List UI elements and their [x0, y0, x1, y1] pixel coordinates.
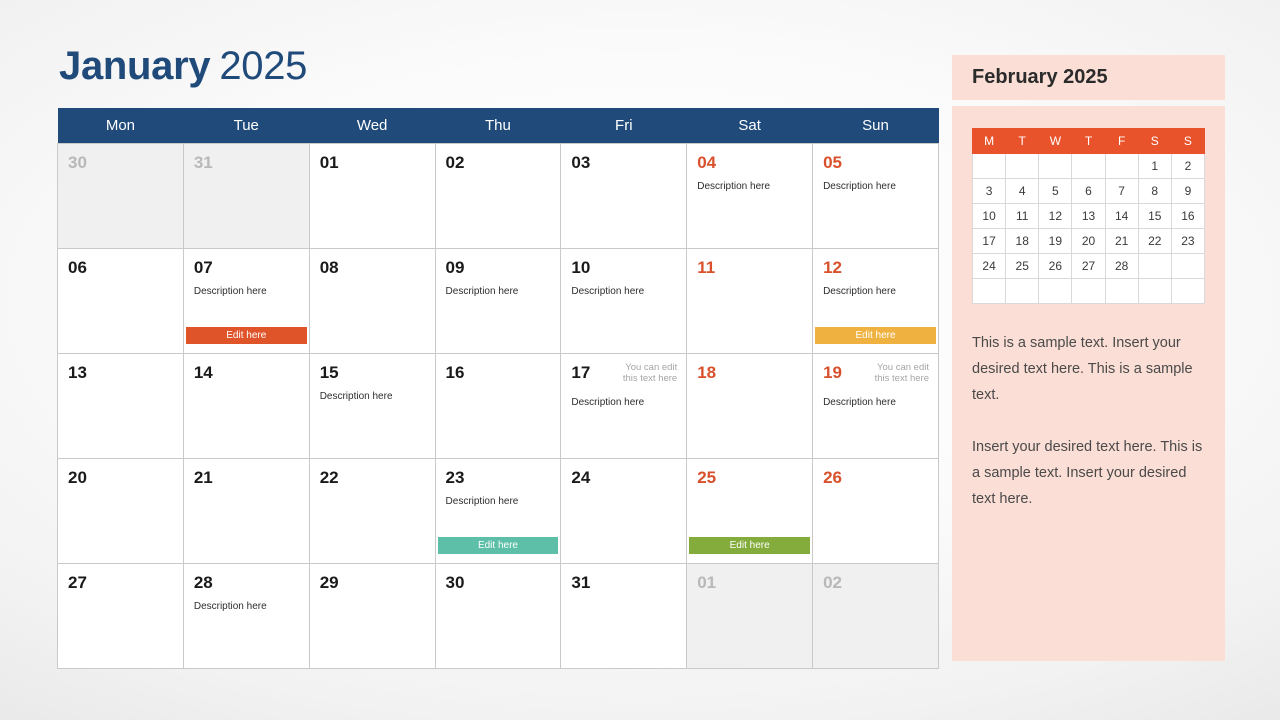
mini-day-cell-empty: [1039, 279, 1072, 304]
mini-weekday-header: F: [1105, 129, 1138, 154]
mini-day-cell-empty: [1072, 279, 1105, 304]
day-cell-09[interactable]: 09Description here: [435, 249, 561, 354]
month-grid: MonTueWedThuFriSatSun 303101020304Descri…: [57, 108, 939, 669]
day-number: 06: [68, 258, 87, 278]
day-cell-inner: 01: [687, 564, 812, 668]
day-cell-25[interactable]: 25Edit here: [687, 459, 813, 564]
mini-day-cell-1[interactable]: 1: [1138, 154, 1171, 179]
day-cell-05[interactable]: 05Description here: [813, 144, 939, 249]
mini-month-grid: MTWTFSS 12345678910111213141516171819202…: [972, 128, 1205, 304]
day-cell-inner: 30: [436, 564, 561, 668]
day-cell-08[interactable]: 08: [309, 249, 435, 354]
day-number: 13: [68, 363, 87, 383]
weekday-header-sat: Sat: [687, 108, 813, 144]
day-cell-inner: 10Description here: [561, 249, 686, 353]
day-cell-inner: 14: [184, 354, 309, 458]
day-cell-23[interactable]: 23Description hereEdit here: [435, 459, 561, 564]
day-cell-inner: 02: [436, 144, 561, 248]
sidebar-paragraph-1: This is a sample text. Insert your desir…: [972, 330, 1205, 408]
day-cell-04[interactable]: 04Description here: [687, 144, 813, 249]
day-description[interactable]: Description here: [194, 601, 299, 613]
day-number: 10: [571, 258, 590, 278]
day-description[interactable]: Description here: [823, 286, 928, 298]
day-number: 01: [697, 573, 716, 593]
day-cell-18[interactable]: 18: [687, 354, 813, 459]
mini-day-cell-empty: [973, 154, 1006, 179]
mini-day-cell-empty: [1138, 279, 1171, 304]
day-number: 20: [68, 468, 87, 488]
mini-day-cell-empty: [1072, 154, 1105, 179]
day-description[interactable]: Description here: [823, 397, 928, 409]
mini-day-cell-2[interactable]: 2: [1171, 154, 1204, 179]
day-cell-inner: 18: [687, 354, 812, 458]
day-cell-01[interactable]: 01: [309, 144, 435, 249]
mini-week-row: 17181920212223: [973, 229, 1205, 254]
day-number: 31: [194, 153, 213, 173]
mini-day-cell-11[interactable]: 11: [1006, 204, 1039, 229]
weekday-header-thu: Thu: [435, 108, 561, 144]
mini-day-cell-15[interactable]: 15: [1138, 204, 1171, 229]
mini-day-cell-18[interactable]: 18: [1006, 229, 1039, 254]
mini-week-row: 2425262728: [973, 254, 1205, 279]
mini-month-grid-body: 1234567891011121314151617181920212223242…: [973, 154, 1205, 304]
edit-here-button[interactable]: Edit here: [815, 327, 936, 344]
day-description[interactable]: Description here: [571, 397, 676, 409]
edit-here-button[interactable]: Edit here: [438, 537, 559, 554]
mini-day-cell-17[interactable]: 17: [973, 229, 1006, 254]
mini-day-cell-27[interactable]: 27: [1072, 254, 1105, 279]
day-cell-inner: 11: [687, 249, 812, 353]
mini-day-cell-4[interactable]: 4: [1006, 179, 1039, 204]
day-number: 15: [320, 363, 339, 383]
day-cell-inner: 28Description here: [184, 564, 309, 668]
day-cell-inner: 19You can edit this text hereDescription…: [813, 354, 938, 458]
day-number: 04: [697, 153, 716, 173]
mini-week-row: [973, 279, 1205, 304]
day-number: 02: [823, 573, 842, 593]
day-number: 09: [446, 258, 465, 278]
mini-day-cell-empty: [1138, 254, 1171, 279]
day-cell-20[interactable]: 20: [58, 459, 184, 564]
mini-day-cell-12[interactable]: 12: [1039, 204, 1072, 229]
day-cell-inner: 12Description hereEdit here: [813, 249, 938, 353]
day-number: 30: [68, 153, 87, 173]
day-cell-inner: 22: [310, 459, 435, 563]
weekday-header-sun: Sun: [813, 108, 939, 144]
day-cell-13[interactable]: 13: [58, 354, 184, 459]
mini-week-row: 10111213141516: [973, 204, 1205, 229]
mini-weekday-header: M: [973, 129, 1006, 154]
week-row: 20212223Description hereEdit here2425Edi…: [58, 459, 939, 564]
day-number: 30: [446, 573, 465, 593]
day-cell-inner: 29: [310, 564, 435, 668]
sidebar-paragraph-2: Insert your desired text here. This is a…: [972, 434, 1205, 512]
day-cell-inner: 25Edit here: [687, 459, 812, 563]
day-cell-inner: 30: [58, 144, 183, 248]
day-cell-14[interactable]: 14: [183, 354, 309, 459]
day-number: 25: [697, 468, 716, 488]
day-cell-inner: 08: [310, 249, 435, 353]
day-cell-21[interactable]: 21: [183, 459, 309, 564]
mini-week-row: 12: [973, 154, 1205, 179]
day-description[interactable]: Description here: [823, 181, 928, 193]
day-cell-inner: 31: [561, 564, 686, 668]
mini-day-cell-28[interactable]: 28: [1105, 254, 1138, 279]
day-cell-22[interactable]: 22: [309, 459, 435, 564]
mini-day-cell-22[interactable]: 22: [1138, 229, 1171, 254]
day-description[interactable]: Description here: [320, 391, 425, 403]
day-number: 02: [446, 153, 465, 173]
mini-day-cell-14[interactable]: 14: [1105, 204, 1138, 229]
day-cell-24[interactable]: 24: [561, 459, 687, 564]
day-cell-01[interactable]: 01: [687, 564, 813, 669]
day-number: 16: [446, 363, 465, 383]
week-row: 303101020304Description here05Descriptio…: [58, 144, 939, 249]
day-cell-03[interactable]: 03: [561, 144, 687, 249]
edit-here-button[interactable]: Edit here: [689, 537, 810, 554]
day-cell-11[interactable]: 11: [687, 249, 813, 354]
month-name: January: [59, 44, 210, 88]
day-number: 11: [697, 258, 715, 278]
mini-weekday-header: T: [1006, 129, 1039, 154]
day-cell-17[interactable]: 17You can edit this text hereDescription…: [561, 354, 687, 459]
day-number: 08: [320, 258, 339, 278]
mini-day-cell-8[interactable]: 8: [1138, 179, 1171, 204]
weekday-header-tue: Tue: [183, 108, 309, 144]
sidebar-title: February 2025: [952, 55, 1225, 100]
year-label: 2025: [219, 44, 307, 88]
day-number: 27: [68, 573, 87, 593]
day-cell-inner: 05Description here: [813, 144, 938, 248]
day-cell-07[interactable]: 07Description hereEdit here: [183, 249, 309, 354]
day-cell-29[interactable]: 29: [309, 564, 435, 669]
mini-day-cell-empty: [1006, 154, 1039, 179]
mini-day-cell-empty: [1105, 154, 1138, 179]
mini-day-cell-16[interactable]: 16: [1171, 204, 1204, 229]
day-cell-inner: 27: [58, 564, 183, 668]
day-number: 19: [823, 363, 842, 383]
day-number: 22: [320, 468, 339, 488]
day-cell-27[interactable]: 27: [58, 564, 184, 669]
mini-day-cell-empty: [1105, 279, 1138, 304]
day-cell-inner: 02: [813, 564, 938, 668]
mini-day-cell-24[interactable]: 24: [973, 254, 1006, 279]
mini-day-cell-21[interactable]: 21: [1105, 229, 1138, 254]
mini-weekday-header-row: MTWTFSS: [973, 129, 1205, 154]
day-description[interactable]: Description here: [697, 181, 802, 193]
mini-day-cell-5[interactable]: 5: [1039, 179, 1072, 204]
day-cell-inner: 21: [184, 459, 309, 563]
mini-day-cell-25[interactable]: 25: [1006, 254, 1039, 279]
day-cell-inner: 09Description here: [436, 249, 561, 353]
day-cell-19[interactable]: 19You can edit this text hereDescription…: [813, 354, 939, 459]
day-cell-inner: 04Description here: [687, 144, 812, 248]
mini-day-cell-23[interactable]: 23: [1171, 229, 1204, 254]
day-description[interactable]: Description here: [446, 496, 551, 508]
day-cell-inner: 20: [58, 459, 183, 563]
edit-here-button[interactable]: Edit here: [186, 327, 307, 344]
weekday-header-wed: Wed: [309, 108, 435, 144]
day-cell-inner: 15Description here: [310, 354, 435, 458]
day-number: 18: [697, 363, 716, 383]
day-cell-16[interactable]: 16: [435, 354, 561, 459]
sidebar-body: MTWTFSS 12345678910111213141516171819202…: [952, 106, 1225, 661]
day-number: 31: [571, 573, 590, 593]
day-cell-28[interactable]: 28Description here: [183, 564, 309, 669]
day-number: 17: [571, 363, 590, 383]
week-row: 0607Description hereEdit here0809Descrip…: [58, 249, 939, 354]
page-title: January2025: [59, 38, 939, 94]
weekday-header-mon: Mon: [58, 108, 184, 144]
mini-day-cell-empty: [1171, 279, 1204, 304]
week-row: 2728Description here2930310102: [58, 564, 939, 669]
day-cell-inner: 17You can edit this text hereDescription…: [561, 354, 686, 458]
day-number: 24: [571, 468, 590, 488]
day-cell-inner: 26: [813, 459, 938, 563]
day-edit-note[interactable]: You can edit this text here: [867, 362, 929, 384]
day-cell-inner: 13: [58, 354, 183, 458]
day-description[interactable]: Description here: [446, 286, 551, 298]
day-cell-02[interactable]: 02: [813, 564, 939, 669]
day-number: 07: [194, 258, 213, 278]
day-number: 23: [446, 468, 465, 488]
day-cell-31[interactable]: 31: [561, 564, 687, 669]
day-cell-inner: 23Description hereEdit here: [436, 459, 561, 563]
month-grid-body: 303101020304Description here05Descriptio…: [58, 144, 939, 669]
day-cell-26[interactable]: 26: [813, 459, 939, 564]
day-description[interactable]: Description here: [571, 286, 676, 298]
day-cell-inner: 07Description hereEdit here: [184, 249, 309, 353]
day-description[interactable]: Description here: [194, 286, 299, 298]
mini-weekday-header: S: [1138, 129, 1171, 154]
day-edit-note[interactable]: You can edit this text here: [615, 362, 677, 384]
day-cell-31[interactable]: 31: [183, 144, 309, 249]
day-cell-30[interactable]: 30: [58, 144, 184, 249]
mini-day-cell-10[interactable]: 10: [973, 204, 1006, 229]
mini-day-cell-empty: [1006, 279, 1039, 304]
mini-day-cell-empty: [973, 279, 1006, 304]
day-cell-inner: 01: [310, 144, 435, 248]
day-number: 29: [320, 573, 339, 593]
week-row: 131415Description here1617You can edit t…: [58, 354, 939, 459]
mini-day-cell-empty: [1171, 254, 1204, 279]
day-number: 05: [823, 153, 842, 173]
sidebar-panel: February 2025 MTWTFSS 123456789101112131…: [952, 55, 1225, 661]
weekday-header-fri: Fri: [561, 108, 687, 144]
mini-day-cell-20[interactable]: 20: [1072, 229, 1105, 254]
day-cell-06[interactable]: 06: [58, 249, 184, 354]
day-cell-30[interactable]: 30: [435, 564, 561, 669]
mini-day-cell-6[interactable]: 6: [1072, 179, 1105, 204]
day-number: 03: [571, 153, 590, 173]
day-cell-10[interactable]: 10Description here: [561, 249, 687, 354]
mini-weekday-header: S: [1171, 129, 1204, 154]
day-cell-inner: 31: [184, 144, 309, 248]
day-cell-02[interactable]: 02: [435, 144, 561, 249]
day-cell-12[interactable]: 12Description hereEdit here: [813, 249, 939, 354]
main-calendar-panel: January2025 MonTueWedThuFriSatSun 303101…: [57, 38, 939, 669]
day-number: 01: [320, 153, 339, 173]
mini-weekday-header: T: [1072, 129, 1105, 154]
mini-day-cell-9[interactable]: 9: [1171, 179, 1204, 204]
day-cell-inner: 16: [436, 354, 561, 458]
mini-day-cell-7[interactable]: 7: [1105, 179, 1138, 204]
day-number: 28: [194, 573, 213, 593]
mini-day-cell-3[interactable]: 3: [973, 179, 1006, 204]
mini-day-cell-26[interactable]: 26: [1039, 254, 1072, 279]
day-number: 21: [194, 468, 213, 488]
mini-day-cell-empty: [1039, 154, 1072, 179]
day-number: 14: [194, 363, 213, 383]
day-cell-inner: 03: [561, 144, 686, 248]
day-cell-inner: 06: [58, 249, 183, 353]
mini-day-cell-13[interactable]: 13: [1072, 204, 1105, 229]
day-cell-15[interactable]: 15Description here: [309, 354, 435, 459]
mini-week-row: 3456789: [973, 179, 1205, 204]
day-cell-inner: 24: [561, 459, 686, 563]
weekday-header-row: MonTueWedThuFriSatSun: [58, 108, 939, 144]
mini-weekday-header: W: [1039, 129, 1072, 154]
day-number: 26: [823, 468, 842, 488]
day-number: 12: [823, 258, 842, 278]
mini-day-cell-19[interactable]: 19: [1039, 229, 1072, 254]
